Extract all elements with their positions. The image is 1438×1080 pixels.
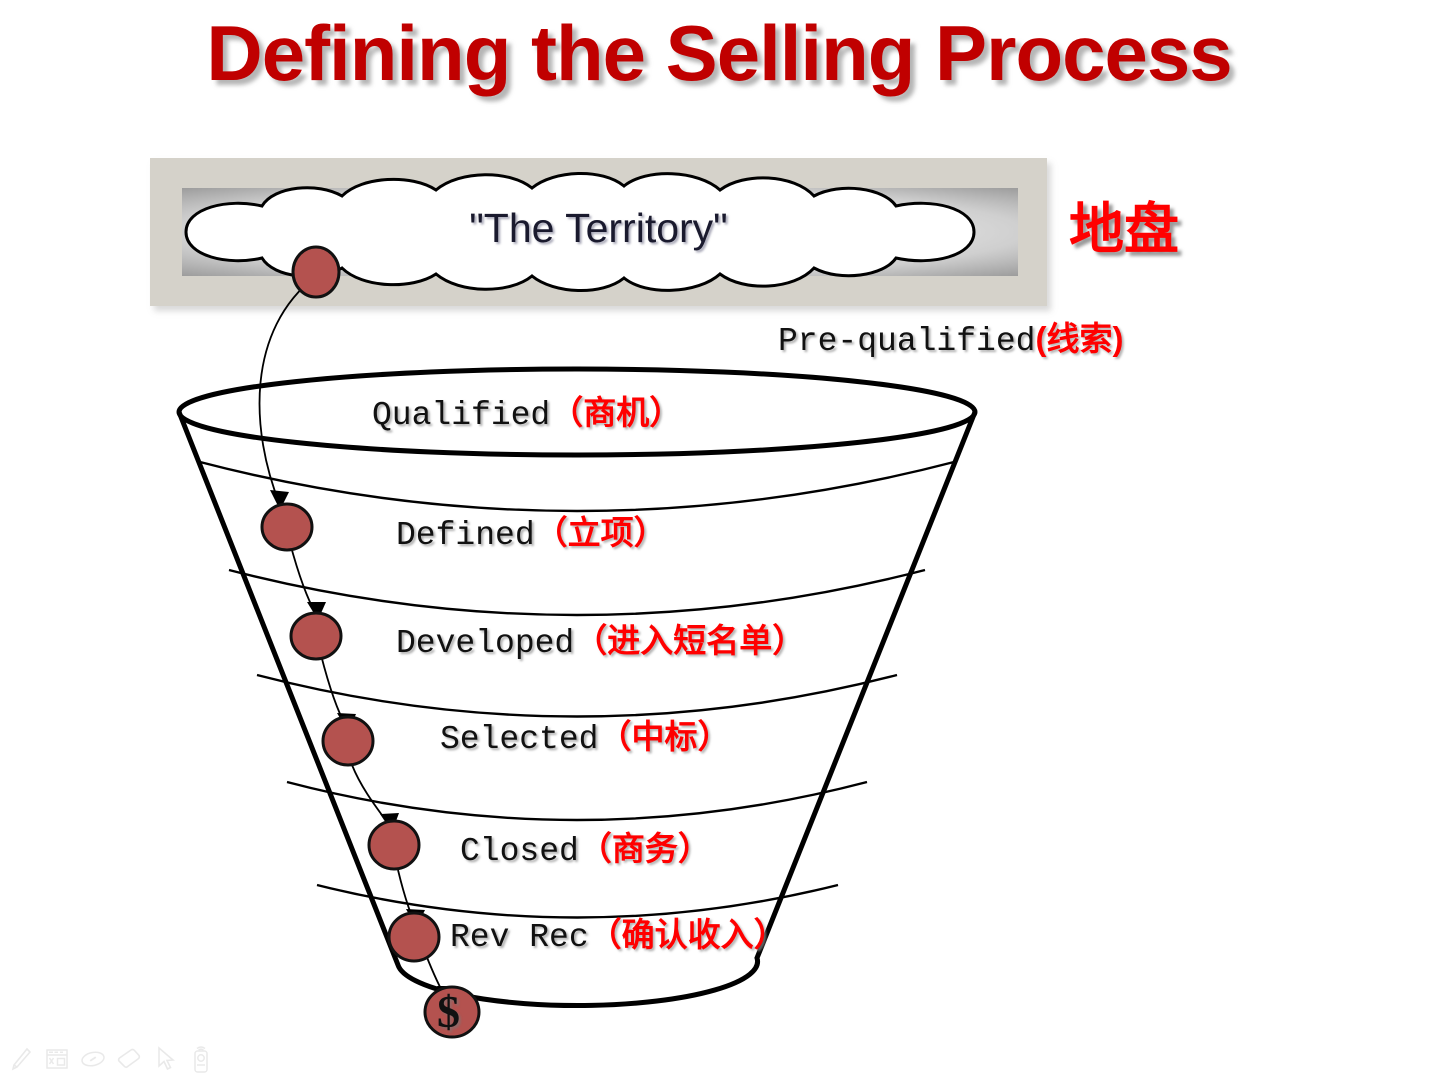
- stage-label-developed: Developed（进入短名单）: [396, 620, 805, 665]
- funnel-arc-2: [257, 675, 897, 717]
- laser-pointer-icon[interactable]: [188, 1044, 214, 1074]
- stage-label-qualified: Qualified（商机）: [372, 392, 682, 437]
- stage-label-closed: Closed（商务）: [460, 828, 711, 873]
- stage-marker-revrec: [389, 913, 439, 961]
- stage-chinese-4: （商务）: [579, 830, 711, 867]
- slide-menu-icon[interactable]: [44, 1044, 70, 1074]
- prequalified-english: Pre-qualified: [778, 323, 1035, 360]
- prequalified-chinese: (线索): [1035, 320, 1123, 357]
- stage-chinese-0: （商机）: [550, 394, 682, 431]
- flow-seg-1: [290, 543, 316, 614]
- stage-english-4: Closed: [460, 833, 579, 870]
- flow-arrowheads: [270, 490, 456, 1004]
- flow-seg-0: [260, 276, 316, 505]
- flow-seg-4: [398, 870, 414, 922]
- dollar-marker-label: $: [437, 986, 460, 1038]
- pen-icon[interactable]: [8, 1044, 34, 1074]
- eraser-icon[interactable]: [116, 1044, 142, 1074]
- stage-marker-developed: [291, 613, 341, 659]
- funnel-arc-top-inner: [200, 462, 954, 511]
- stage-marker-closed: [369, 821, 419, 869]
- stage-chinese-5: （确认收入）: [589, 916, 787, 953]
- stage-english-5: Rev Rec: [450, 919, 589, 956]
- flow-seg-2: [321, 655, 346, 726]
- stage-label-defined: Defined（立项）: [396, 512, 667, 557]
- page-title: Defining the Selling Process: [0, 6, 1438, 100]
- stage-chinese-3: （中标）: [598, 718, 730, 755]
- territory-label: "The Territory": [150, 202, 1047, 254]
- stage-chinese-2: （进入短名单）: [574, 622, 805, 659]
- presentation-toolbar[interactable]: [8, 1044, 214, 1074]
- funnel-arc-1: [229, 570, 925, 615]
- highlighter-icon[interactable]: [80, 1044, 106, 1074]
- slide-canvas: Defining the Selling Process "The Territ…: [0, 0, 1438, 1080]
- funnel-arc-3: [287, 782, 867, 820]
- stage-marker-defined: [262, 504, 312, 550]
- flow-seg-3: [352, 765, 390, 826]
- pointer-icon[interactable]: [152, 1044, 178, 1074]
- stage-english-1: Defined: [396, 517, 535, 554]
- stage-label-selected: Selected（中标）: [440, 716, 730, 761]
- stage-label-rev-rec: Rev Rec（确认收入）: [450, 914, 787, 959]
- stage-english-2: Developed: [396, 625, 574, 662]
- funnel-arc-4: [317, 885, 838, 918]
- stage-english-3: Selected: [440, 721, 598, 758]
- stage-chinese-1: （立项）: [535, 514, 667, 551]
- stage-english-0: Qualified: [372, 397, 550, 434]
- funnel-outline: [179, 369, 975, 1006]
- prequalified-label: Pre-qualified(线索): [778, 318, 1123, 363]
- stage-marker-selected: [323, 717, 373, 765]
- territory-chinese-annotation: 地盘: [1069, 196, 1179, 262]
